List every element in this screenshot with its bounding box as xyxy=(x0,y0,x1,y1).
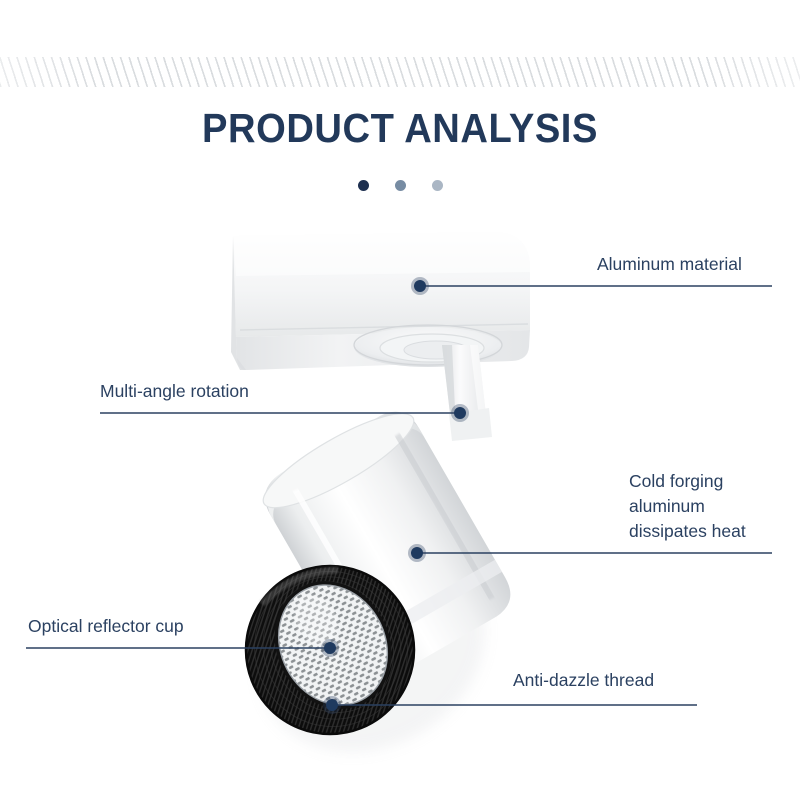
callout-label-aluminum-material: Aluminum material xyxy=(597,252,742,277)
callout-label-optical-reflector-cup: Optical reflector cup xyxy=(28,614,184,639)
swivel-base-ring xyxy=(354,325,502,367)
callout-label-multi-angle-rotation: Multi-angle rotation xyxy=(100,379,249,404)
callout-label-cold-forging-aluminum-dissipates-heat: Cold forging aluminum dissipates heat xyxy=(629,469,746,544)
infographic-canvas: PRODUCT ANALYSIS xyxy=(0,0,800,800)
callout-label-anti-dazzle-thread: Anti-dazzle thread xyxy=(513,668,654,693)
